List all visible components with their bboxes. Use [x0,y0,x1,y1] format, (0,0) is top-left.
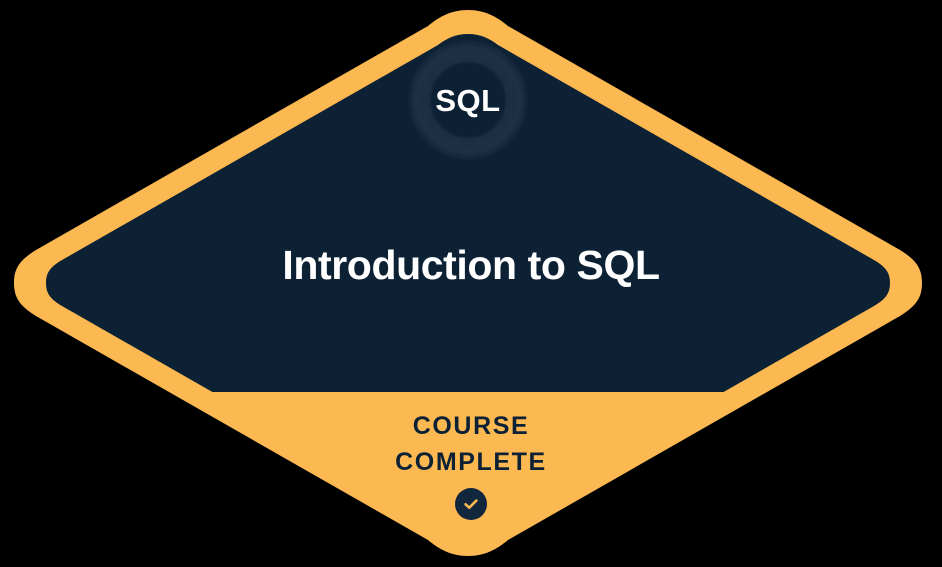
status-line-primary: COURSE [0,408,942,444]
check-circle-icon [455,488,487,520]
course-title: Introduction to SQL [0,241,942,289]
status-line-secondary: COMPLETE [0,444,942,480]
subject-badge: SQL [408,40,528,160]
subject-badge-label: SQL [435,85,500,116]
course-complete-card: SQL Introduction to SQL COURSE COMPLETE [0,0,942,567]
status-block: COURSE COMPLETE [0,408,942,520]
